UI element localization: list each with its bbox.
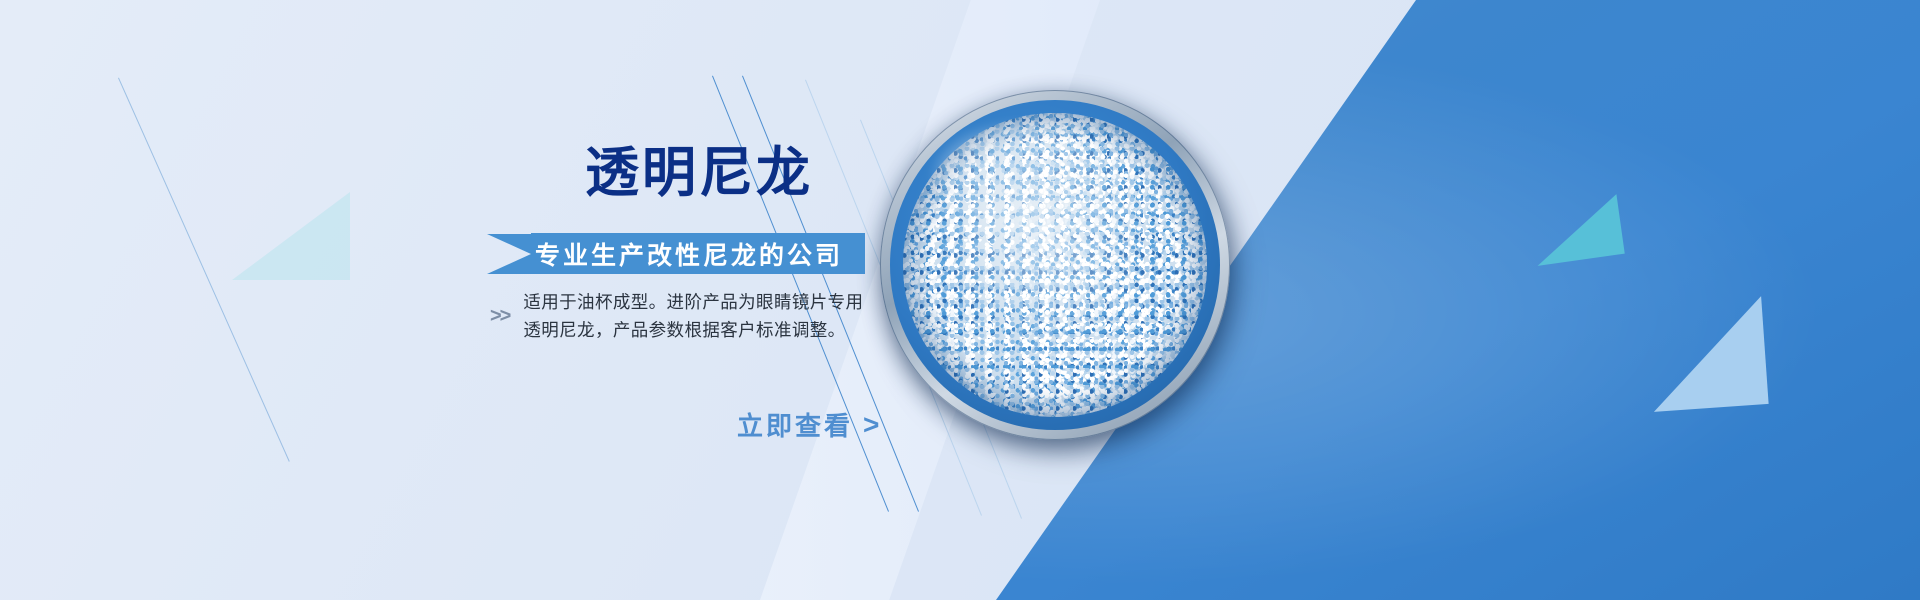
tagline-ribbon: 专业生产改性尼龙的公司 [487,233,865,274]
decor-triangle-light-blue [1646,296,1768,412]
page-title: 透明尼龙 [585,128,813,207]
ribbon-body: 专业生产改性尼龙的公司 [531,233,865,274]
description-text: 适用于油杯成型。进阶产品为眼睛镜片专用 透明尼龙，产品参数根据客户标准调整。 [523,288,863,345]
decor-triangle-cyan [1529,194,1624,266]
ribbon-arrow-icon [487,234,531,274]
description-line-1: 适用于油杯成型。进阶产品为眼睛镜片专用 [523,288,863,316]
description-line-2: 透明尼龙，产品参数根据客户标准调整。 [523,316,863,344]
double-chevron-icon: >> [490,305,509,328]
hero-banner: 透明尼龙 专业生产改性尼龙的公司 >> 适用于油杯成型。进阶产品为眼睛镜片专用 … [0,0,1920,600]
view-now-button[interactable]: 立即查看 > [737,406,882,443]
tagline-text: 专业生产改性尼龙的公司 [535,236,843,272]
chevron-right-icon: > [863,411,882,439]
banner-content: 透明尼龙 专业生产改性尼龙的公司 >> 适用于油杯成型。进阶产品为眼睛镜片专用 … [0,0,960,600]
description-block: >> 适用于油杯成型。进阶产品为眼睛镜片专用 透明尼龙，产品参数根据客户标准调整… [490,288,863,345]
view-now-label: 立即查看 [737,406,853,443]
